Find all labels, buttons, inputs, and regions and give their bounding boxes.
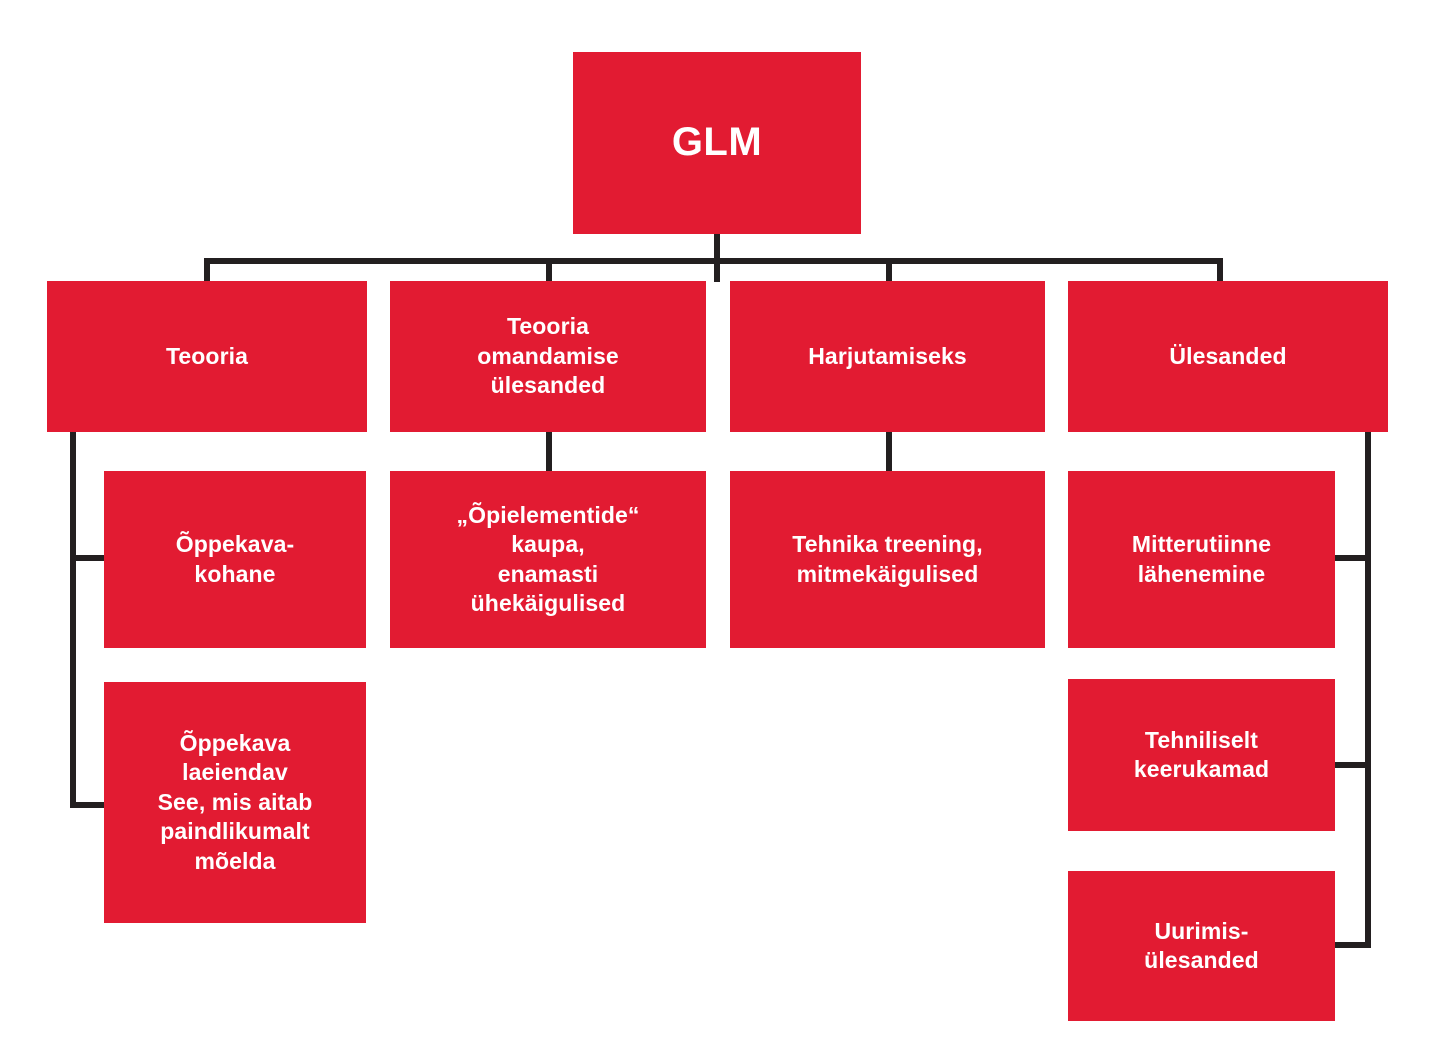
node-oppekava-laeiendav: Õppekava laeiendav See, mis aitab paindl… xyxy=(104,682,366,923)
connector-right-spine xyxy=(1365,430,1371,948)
node-teooria-omandamise-ulesanded: Teooria omandamise ülesanded xyxy=(390,281,706,432)
node-tehniliselt-keerukamad: Tehniliselt keerukamad xyxy=(1068,679,1335,831)
org-chart-canvas: GLM Teooria Teooria omandamise ülesanded… xyxy=(0,0,1440,1055)
node-root-glm: GLM xyxy=(573,52,861,234)
node-ulesanded: Ülesanded xyxy=(1068,281,1388,432)
node-opielementide-kaupa: „Õpielementide“ kaupa, enamasti ühekäigu… xyxy=(390,471,706,648)
connector-right-branch-2 xyxy=(1330,762,1371,768)
connector-tehnika-treening xyxy=(886,430,892,474)
node-harjutamiseks: Harjutamiseks xyxy=(730,281,1045,432)
node-tehnika-treening: Tehnika treening, mitmekäigulised xyxy=(730,471,1045,648)
connector-horizontal-bus xyxy=(204,258,1223,264)
connector-right-branch-1 xyxy=(1330,555,1371,561)
connector-left-spine xyxy=(70,430,76,808)
node-uurimis-ulesanded: Uurimis- ülesanded xyxy=(1068,871,1335,1021)
connector-right-branch-3 xyxy=(1330,942,1371,948)
node-mitterutiinne-lahenemine: Mitterutiinne lähenemine xyxy=(1068,471,1335,648)
node-oppekava-kohane: Õppekava- kohane xyxy=(104,471,366,648)
node-teooria: Teooria xyxy=(47,281,367,432)
connector-opielementide xyxy=(546,430,552,474)
